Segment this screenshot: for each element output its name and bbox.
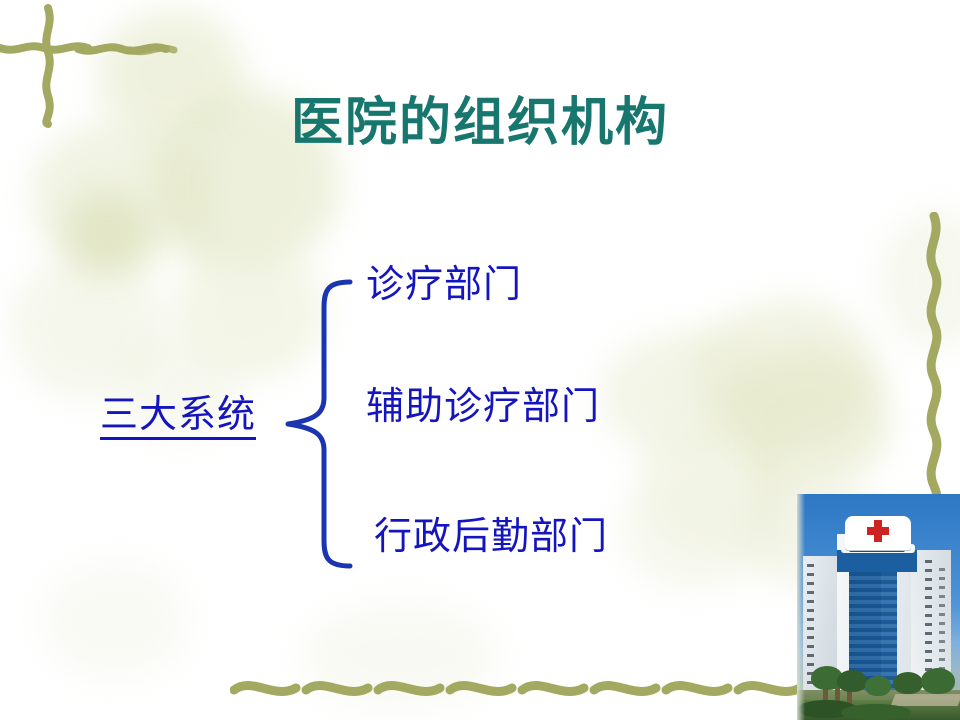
branch-label-1: 诊疗部门 [366, 266, 522, 306]
page-title: 医院的组织机构 [0, 96, 960, 151]
hospital-building-photo [797, 494, 960, 720]
branch-label-3: 行政后勤部门 [374, 518, 608, 558]
photo-tree-4 [893, 672, 923, 694]
branch-label-2: 辅助诊疗部门 [366, 388, 600, 428]
photo-shrub-2 [841, 704, 911, 720]
curly-brace-connector [280, 278, 360, 570]
red-cross-icon-bar [867, 527, 889, 535]
photo-tree-2 [837, 670, 867, 692]
slide-canvas: 医院的组织机构 三大系统 诊疗部门 辅助诊疗部门 行政后勤部门 [0, 0, 960, 720]
photo-tree-5 [921, 668, 955, 694]
diagram-root-label: 三大系统 [100, 396, 256, 440]
photo-left-edge-fade [797, 494, 805, 720]
photo-tree-3 [865, 676, 891, 696]
photo-walkway [891, 694, 960, 706]
photo-blue-band [837, 550, 917, 572]
